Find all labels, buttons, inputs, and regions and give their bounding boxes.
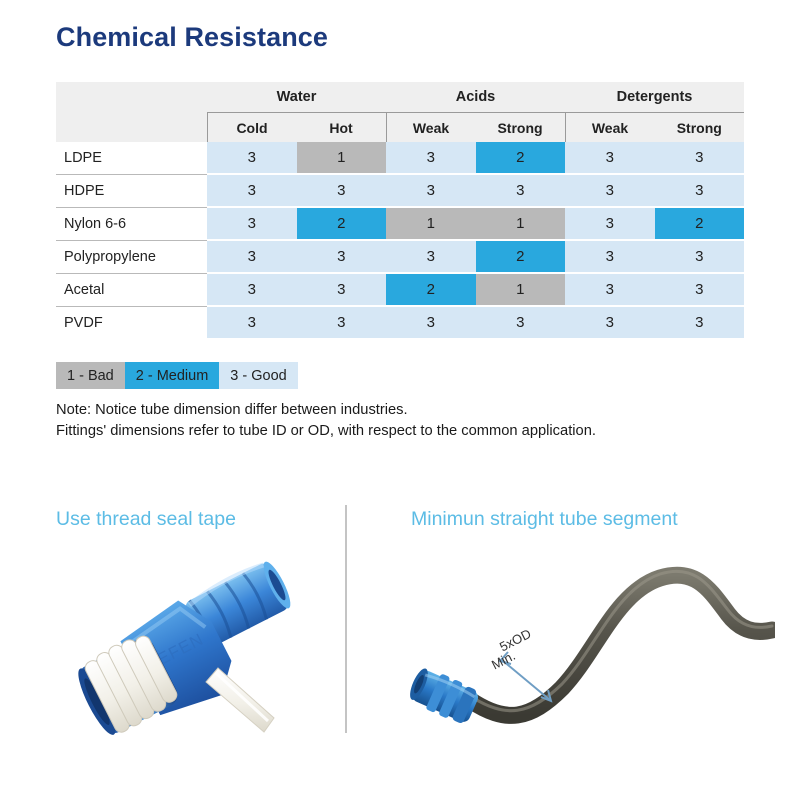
cell-ldpe-acids-weak: 3 bbox=[386, 142, 476, 174]
thread-seal-tape-figure: TEFEN bbox=[78, 540, 346, 735]
cell-nylon-detergents-weak: 3 bbox=[565, 207, 655, 240]
table-row: Acetal 3 3 2 1 3 3 bbox=[56, 273, 744, 306]
cell-acetal-water-cold: 3 bbox=[207, 273, 297, 306]
note-line-1: Note: Notice tube dimension differ betwe… bbox=[56, 400, 596, 421]
cell-pvdf-acids-weak: 3 bbox=[386, 306, 476, 339]
cell-ldpe-detergents-strong: 3 bbox=[655, 142, 745, 174]
column-group-water: Water bbox=[207, 82, 386, 113]
subheader-water-hot: Hot bbox=[297, 113, 387, 143]
cell-acetal-detergents-weak: 3 bbox=[565, 273, 655, 306]
cell-acetal-acids-weak: 2 bbox=[386, 273, 476, 306]
column-group-detergents: Detergents bbox=[565, 82, 744, 113]
cell-pvdf-water-hot: 3 bbox=[297, 306, 387, 339]
row-label-ldpe: LDPE bbox=[56, 142, 207, 174]
row-label-nylon-6-6: Nylon 6-6 bbox=[56, 207, 207, 240]
cell-ldpe-water-cold: 3 bbox=[207, 142, 297, 174]
table-corner-cell bbox=[56, 82, 207, 113]
chemical-resistance-table: Water Acids Detergents Cold Hot Weak Str… bbox=[56, 82, 744, 340]
subheader-water-cold: Cold bbox=[207, 113, 297, 143]
straight-tube-segment-figure bbox=[410, 548, 775, 733]
cell-pp-acids-strong: 2 bbox=[476, 240, 566, 273]
table-subheader-row: Cold Hot Weak Strong Weak Strong bbox=[56, 113, 744, 143]
cell-acetal-detergents-strong: 3 bbox=[655, 273, 745, 306]
cell-ldpe-water-hot: 1 bbox=[297, 142, 387, 174]
table-row: LDPE 3 1 3 2 3 3 bbox=[56, 142, 744, 174]
cell-pp-water-cold: 3 bbox=[207, 240, 297, 273]
table-row: Nylon 6-6 3 2 1 1 3 2 bbox=[56, 207, 744, 240]
subheader-detergents-strong: Strong bbox=[655, 113, 745, 143]
row-label-polypropylene: Polypropylene bbox=[56, 240, 207, 273]
cell-pvdf-detergents-weak: 3 bbox=[565, 306, 655, 339]
cell-nylon-water-cold: 3 bbox=[207, 207, 297, 240]
cell-hdpe-acids-weak: 3 bbox=[386, 174, 476, 207]
table-group-header-row: Water Acids Detergents bbox=[56, 82, 744, 113]
table-row: Polypropylene 3 3 3 2 3 3 bbox=[56, 240, 744, 273]
cell-pvdf-acids-strong: 3 bbox=[476, 306, 566, 339]
legend-item-bad: 1 - Bad bbox=[56, 362, 125, 389]
notes-block: Note: Notice tube dimension differ betwe… bbox=[56, 400, 596, 442]
cell-ldpe-detergents-weak: 3 bbox=[565, 142, 655, 174]
table-row: PVDF 3 3 3 3 3 3 bbox=[56, 306, 744, 339]
cell-pp-detergents-weak: 3 bbox=[565, 240, 655, 273]
column-group-acids: Acids bbox=[386, 82, 565, 113]
table-body: LDPE 3 1 3 2 3 3 HDPE 3 3 3 3 3 3 Nylon … bbox=[56, 142, 744, 339]
subheader-acids-strong: Strong bbox=[476, 113, 566, 143]
cell-acetal-acids-strong: 1 bbox=[476, 273, 566, 306]
cell-nylon-acids-strong: 1 bbox=[476, 207, 566, 240]
cell-nylon-detergents-strong: 2 bbox=[655, 207, 745, 240]
cell-hdpe-water-hot: 3 bbox=[297, 174, 387, 207]
row-label-pvdf: PVDF bbox=[56, 306, 207, 339]
cell-nylon-water-hot: 2 bbox=[297, 207, 387, 240]
legend-item-medium: 2 - Medium bbox=[125, 362, 220, 389]
cell-pvdf-detergents-strong: 3 bbox=[655, 306, 745, 339]
page-title: Chemical Resistance bbox=[56, 22, 328, 53]
row-label-hdpe: HDPE bbox=[56, 174, 207, 207]
cell-pp-acids-weak: 3 bbox=[386, 240, 476, 273]
cell-ldpe-acids-strong: 2 bbox=[476, 142, 566, 174]
cell-hdpe-acids-strong: 3 bbox=[476, 174, 566, 207]
cell-hdpe-detergents-weak: 3 bbox=[565, 174, 655, 207]
table-subheader-blank bbox=[56, 113, 207, 143]
section-heading-thread-seal-tape: Use thread seal tape bbox=[56, 508, 236, 531]
table-row: HDPE 3 3 3 3 3 3 bbox=[56, 174, 744, 207]
subheader-detergents-weak: Weak bbox=[565, 113, 655, 143]
row-label-acetal: Acetal bbox=[56, 273, 207, 306]
section-heading-straight-segment: Minimun straight tube segment bbox=[411, 508, 678, 531]
cell-acetal-water-hot: 3 bbox=[297, 273, 387, 306]
note-line-2: Fittings' dimensions refer to tube ID or… bbox=[56, 421, 596, 442]
table-head: Water Acids Detergents Cold Hot Weak Str… bbox=[56, 82, 744, 142]
cell-nylon-acids-weak: 1 bbox=[386, 207, 476, 240]
legend-item-good: 3 - Good bbox=[219, 362, 297, 389]
subheader-acids-weak: Weak bbox=[386, 113, 476, 143]
cell-pp-water-hot: 3 bbox=[297, 240, 387, 273]
cell-hdpe-water-cold: 3 bbox=[207, 174, 297, 207]
rating-legend: 1 - Bad 2 - Medium 3 - Good bbox=[56, 362, 298, 389]
cell-hdpe-detergents-strong: 3 bbox=[655, 174, 745, 207]
cell-pp-detergents-strong: 3 bbox=[655, 240, 745, 273]
cell-pvdf-water-cold: 3 bbox=[207, 306, 297, 339]
